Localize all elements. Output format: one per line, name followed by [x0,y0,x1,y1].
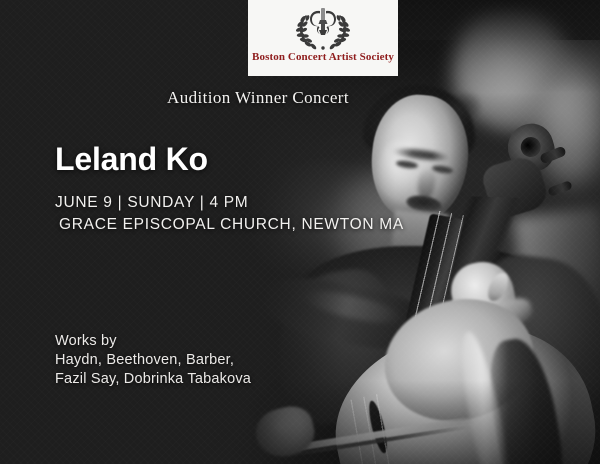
event-details: JUNE 9 | SUNDAY | 4 PM GRACE EPISCOPAL C… [55,192,404,236]
concert-kicker: Audition Winner Concert [0,88,600,108]
event-datetime: JUNE 9 | SUNDAY | 4 PM [55,192,404,214]
event-venue: GRACE EPISCOPAL CHURCH, NEWTON MA [55,214,404,236]
program-composers-line-1: Haydn, Beethoven, Barber, [55,351,251,370]
society-logo: Boston Concert Artist Society [248,0,398,76]
lyre-laurel-wreath-icon [291,4,355,50]
program-heading: Works by [55,332,251,351]
program-works: Works by Haydn, Beethoven, Barber, Fazil… [55,332,251,389]
concert-poster: Boston Concert Artist Society Audition W… [0,0,600,464]
artist-name: Leland Ko [55,141,208,178]
program-composers-line-2: Fazil Say, Dobrinka Tabakova [55,370,251,389]
society-name: Boston Concert Artist Society [252,51,394,63]
